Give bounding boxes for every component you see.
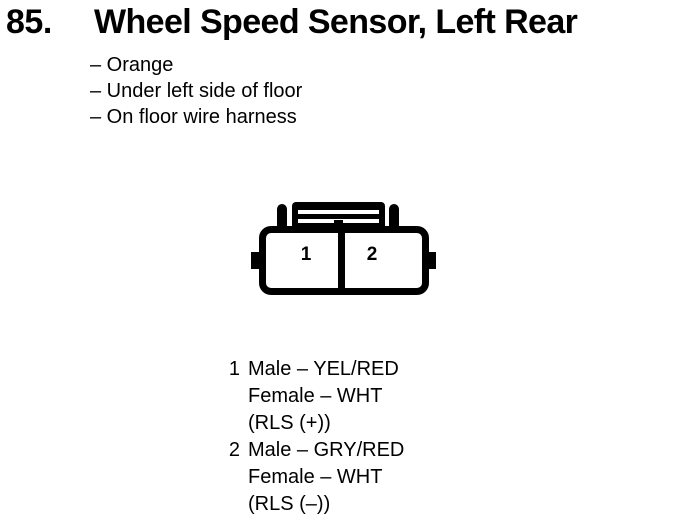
cavity-label-1: 1: [292, 244, 320, 266]
cavity-label-2: 2: [358, 244, 386, 266]
pin-line-male: Male – GRY/RED: [248, 437, 522, 464]
pin-entry: 1 Male – YEL/RED Female – WHT (RLS (+)): [222, 356, 522, 437]
detail-list: – Orange – Under left side of floor – On…: [90, 52, 570, 130]
latch-slot-upper: [298, 210, 379, 214]
header: 85. Wheel Speed Sensor, Left Rear: [0, 0, 688, 48]
pin-legend: 1 Male – YEL/RED Female – WHT (RLS (+)) …: [222, 356, 522, 518]
pin-lines: Male – YEL/RED Female – WHT (RLS (+)): [248, 356, 522, 437]
connector-diagram: 1 2: [248, 198, 428, 302]
detail-item: – Under left side of floor: [90, 78, 570, 104]
cavity-divider: [338, 226, 345, 295]
pin-line-circuit: (RLS (+)): [248, 410, 522, 437]
side-tab-left-icon: [251, 252, 262, 269]
item-number: 85.: [6, 2, 52, 42]
detail-item: – Orange: [90, 52, 570, 78]
pin-entry: 2 Male – GRY/RED Female – WHT (RLS (–)): [222, 437, 522, 518]
detail-item: – On floor wire harness: [90, 104, 570, 130]
pin-line-circuit: (RLS (–)): [248, 491, 522, 518]
page-title: Wheel Speed Sensor, Left Rear: [94, 2, 577, 42]
pin-line-female: Female – WHT: [248, 383, 522, 410]
pin-line-male: Male – YEL/RED: [248, 356, 522, 383]
side-tab-right-icon: [425, 252, 436, 269]
pin-number: 2: [222, 437, 240, 464]
pin-lines: Male – GRY/RED Female – WHT (RLS (–)): [248, 437, 522, 518]
pin-line-female: Female – WHT: [248, 464, 522, 491]
pin-number: 1: [222, 356, 240, 383]
